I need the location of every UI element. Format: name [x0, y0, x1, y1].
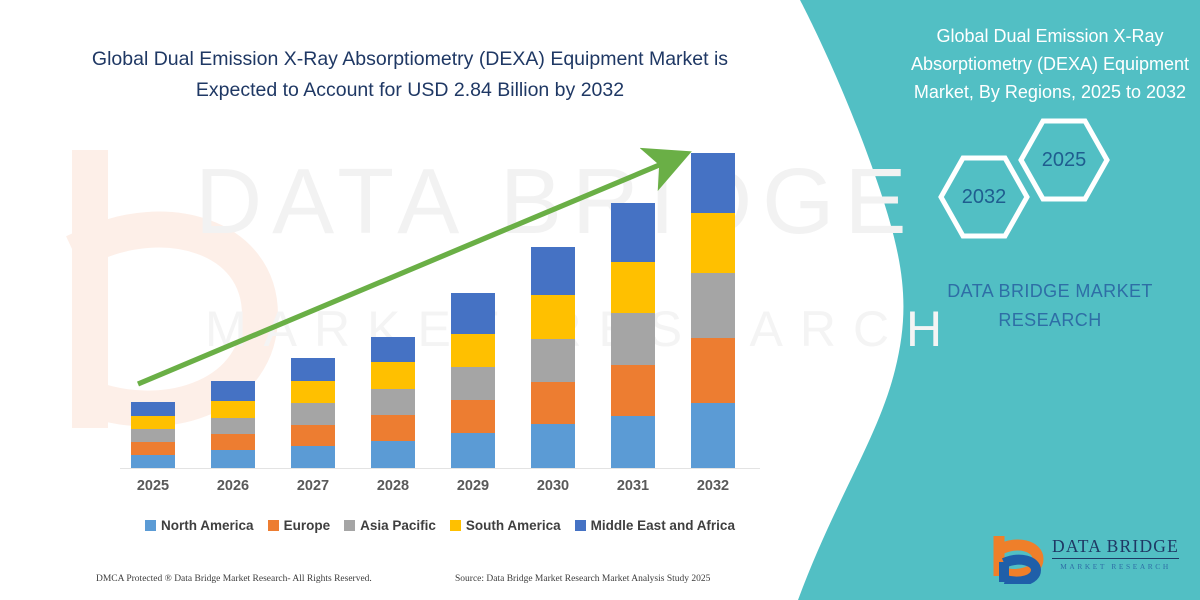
hexagon-badge-2025-label: 2025 [1018, 118, 1110, 202]
data-bridge-logo: DATA BRIDGE MARKET RESEARCH [990, 530, 1190, 586]
infographic-root: DATA BRIDGE MARKET RESEARCH Global Dual … [0, 0, 1200, 600]
right-panel-content: Global Dual Emission X-Ray Absorptiometr… [0, 0, 1200, 600]
panel-title: Global Dual Emission X-Ray Absorptiometr… [905, 22, 1195, 106]
hexagon-badge-2032-label: 2032 [938, 155, 1030, 239]
logo-wordmark: DATA BRIDGE MARKET RESEARCH [1052, 536, 1179, 571]
hexagon-badge-2032: 2032 [938, 155, 1030, 239]
logo-sub-text: MARKET RESEARCH [1052, 562, 1179, 571]
panel-brand-text: DATA BRIDGE MARKET RESEARCH [905, 277, 1195, 335]
logo-main-text: DATA BRIDGE [1052, 536, 1179, 559]
data-bridge-b-icon [990, 532, 1048, 584]
hexagon-badge-2025: 2025 [1018, 118, 1110, 202]
